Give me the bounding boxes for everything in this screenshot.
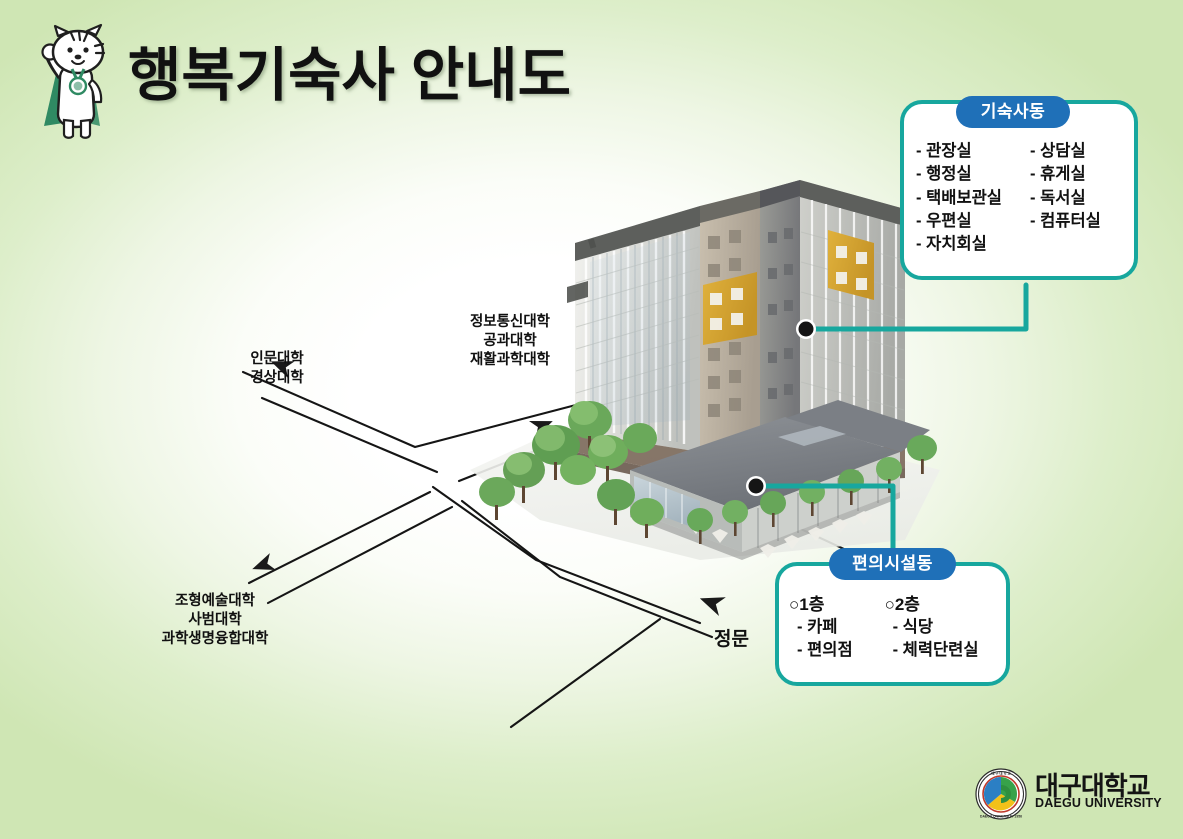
university-logo: 대 구 대 학 교 DAEGU UNIVERSITY 1956 대구대학교 DA… bbox=[975, 766, 1160, 824]
page-title: 행복기숙사 안내도 bbox=[128, 28, 571, 112]
direction-label-humanities: 인문대학 경상대학 bbox=[222, 350, 332, 388]
dorm-marker-dot bbox=[799, 322, 814, 337]
list-item: - 관장실 bbox=[916, 140, 1024, 163]
main-gate-label: 정문 bbox=[714, 627, 749, 652]
list-item: - 식당 bbox=[893, 616, 1004, 638]
dormitory-facility-column-2: - 상담실 - 휴게실 - 독서실 - 컴퓨터실 bbox=[1030, 140, 1130, 256]
direction-label-line: 공과대학 bbox=[430, 332, 590, 351]
direction-label-line: 정보통신대학 bbox=[430, 313, 590, 332]
arrow-gate-icon bbox=[696, 589, 725, 616]
dormitory-guide-map: 행복기숙사 안내도 인문대학 경상대학 정보통신대학 공과대학 재활과학대학 조… bbox=[0, 0, 1183, 839]
direction-label-line: 사범대학 bbox=[100, 611, 330, 630]
floor-2-items: - 식당 - 체력단련실 bbox=[885, 616, 1004, 661]
dormitory-facility-lists: - 관장실 - 행정실 - 택배보관실 - 우편실 - 자치회실 - 상담실 -… bbox=[916, 140, 1130, 256]
arrow-southwest-icon bbox=[249, 553, 276, 577]
direction-label-line: 조형예술대학 bbox=[100, 592, 330, 611]
list-item: - 독서실 bbox=[1030, 187, 1130, 210]
list-item: - 휴게실 bbox=[1030, 163, 1130, 186]
direction-label-line: 인문대학 bbox=[222, 350, 332, 369]
list-item: - 행정실 bbox=[916, 163, 1024, 186]
list-item: - 상담실 bbox=[1030, 140, 1130, 163]
white-tiger-mascot-icon bbox=[26, 22, 126, 142]
direction-label-arts: 조형예술대학 사범대학 과학생명융합대학 bbox=[100, 592, 330, 649]
direction-label-ict: 정보통신대학 공과대학 재활과학대학 bbox=[430, 313, 590, 370]
convenience-callout-title: 편의시설동 bbox=[829, 548, 956, 580]
list-item: - 편의점 bbox=[797, 639, 881, 661]
direction-label-line: 재활과학대학 bbox=[430, 351, 590, 370]
list-item: - 택배보관실 bbox=[916, 187, 1024, 210]
convenience-floor-1: ○1층 - 카페 - 편의점 bbox=[789, 594, 881, 661]
convenience-facility-lists: ○1층 - 카페 - 편의점 ○2층 - 식당 - 체력단련실 bbox=[789, 594, 1004, 661]
list-item: - 컴퓨터실 bbox=[1030, 210, 1130, 233]
dormitory-facility-column-1: - 관장실 - 행정실 - 택배보관실 - 우편실 - 자치회실 bbox=[916, 140, 1024, 256]
list-item: - 카페 bbox=[797, 616, 881, 638]
svg-text:대 구 대 학 교: 대 구 대 학 교 bbox=[991, 770, 1010, 775]
convenience-floor-2: ○2층 - 식당 - 체력단련실 bbox=[885, 594, 1004, 661]
svg-text:DAEGU UNIVERSITY 1956: DAEGU UNIVERSITY 1956 bbox=[980, 815, 1022, 819]
floor-label: ○1층 bbox=[789, 594, 881, 616]
list-item: - 자치회실 bbox=[916, 233, 1024, 256]
floor-1-items: - 카페 - 편의점 bbox=[789, 616, 881, 661]
direction-label-line: 경상대학 bbox=[222, 369, 332, 388]
daegu-university-emblem-icon: 대 구 대 학 교 DAEGU UNIVERSITY 1956 bbox=[975, 768, 1027, 820]
direction-label-line: 과학생명융합대학 bbox=[100, 630, 330, 649]
logo-english-name: DAEGU UNIVERSITY bbox=[1035, 796, 1162, 810]
list-item: - 우편실 bbox=[916, 210, 1024, 233]
dormitory-callout-title: 기숙사동 bbox=[956, 96, 1070, 128]
conv-marker-dot bbox=[749, 479, 764, 494]
page-header: 행복기숙사 안내도 bbox=[0, 0, 660, 150]
floor-label: ○2층 bbox=[885, 594, 1004, 616]
list-item: - 체력단련실 bbox=[893, 639, 1004, 661]
